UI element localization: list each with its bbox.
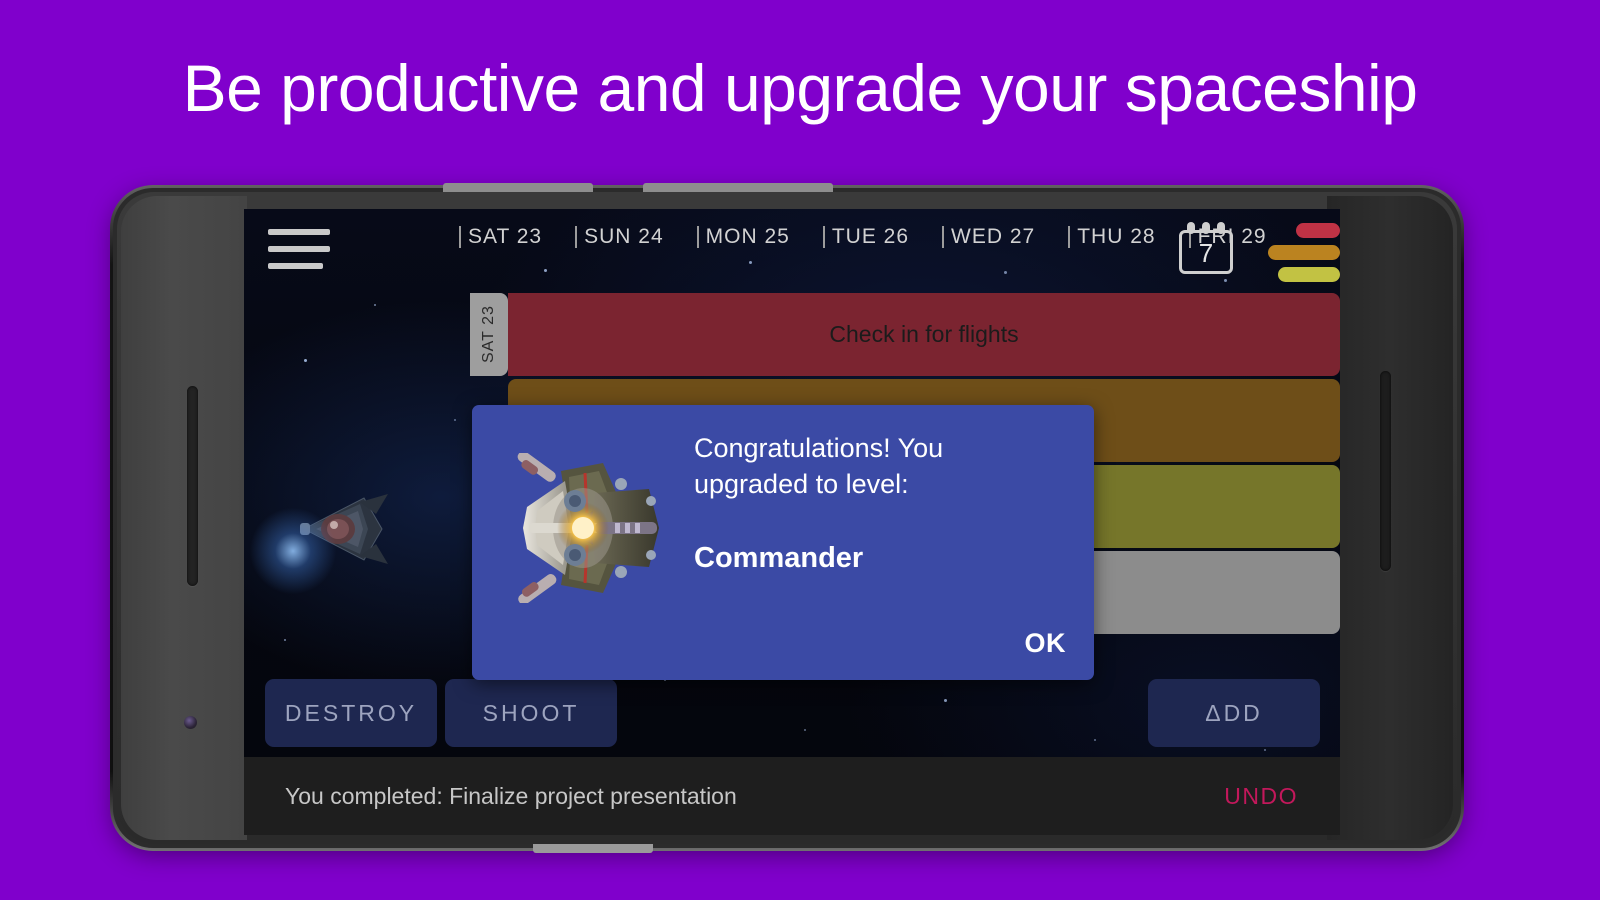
pill-olive [1278, 267, 1340, 282]
player-spaceship [264, 484, 394, 574]
snackbar: You completed: Finalize project presenta… [244, 757, 1340, 835]
day-label[interactable]: THU 28 [1068, 225, 1155, 249]
hamburger-menu-icon[interactable] [268, 229, 330, 269]
device-bottom-nub [533, 844, 653, 853]
app-top-bar: SAT 23 SUN 24 MON 25 TUE 26 WED 27 THU 2… [244, 209, 1340, 287]
phone-screen: SAT 23 SUN 24 MON 25 TUE 26 WED 27 THU 2… [244, 209, 1340, 835]
phone-bezel-right [1327, 196, 1453, 840]
page-title: Be productive and upgrade your spaceship [0, 52, 1600, 125]
pill-red [1296, 223, 1340, 238]
calendar-icon[interactable]: 7 [1179, 222, 1233, 274]
front-camera [184, 716, 197, 729]
calendar-day-number: 7 [1179, 238, 1233, 269]
add-button[interactable]: ΔDD [1148, 679, 1320, 747]
phone-frame: SAT 23 SUN 24 MON 25 TUE 26 WED 27 THU 2… [117, 192, 1457, 844]
device-top-nub [443, 183, 593, 192]
day-label[interactable]: SUN 24 [575, 225, 664, 249]
day-label[interactable]: MON 25 [697, 225, 790, 249]
day-strip: SAT 23 SUN 24 MON 25 TUE 26 WED 27 THU 2… [459, 225, 1300, 249]
pill-gold [1268, 245, 1340, 260]
phone-bezel-left [121, 196, 247, 840]
day-label[interactable]: WED 27 [942, 225, 1035, 249]
device-top-nub [643, 183, 833, 192]
day-label[interactable]: SAT 23 [459, 225, 542, 249]
day-label[interactable]: TUE 26 [823, 225, 909, 249]
progress-pills [1268, 223, 1340, 282]
ok-button[interactable]: OK [1025, 628, 1067, 659]
level-up-dialog: Congratulations! You upgraded to level: … [472, 405, 1094, 680]
task-row[interactable]: SAT 23 Check in for flights [470, 293, 1340, 376]
undo-button[interactable]: UNDO [1224, 783, 1298, 810]
task-day-tag: SAT 23 [470, 293, 508, 376]
spaceship-icon [499, 453, 667, 603]
shoot-button[interactable]: SHOOT [445, 679, 617, 747]
task-title[interactable]: Check in for flights [508, 293, 1340, 376]
speaker-grill-left [187, 386, 198, 586]
destroy-button[interactable]: DESTROY [265, 679, 437, 747]
action-bar: DESTROY SHOOT ΔDD [244, 679, 1340, 749]
snackbar-message: You completed: Finalize project presenta… [285, 783, 737, 810]
phone-device: SAT 23 SUN 24 MON 25 TUE 26 WED 27 THU 2… [113, 188, 1461, 848]
dialog-level-name: Commander [694, 542, 863, 575]
engine-glow [248, 506, 338, 596]
dialog-message: Congratulations! You upgraded to level: [694, 431, 1064, 502]
speaker-grill-right [1380, 371, 1391, 571]
